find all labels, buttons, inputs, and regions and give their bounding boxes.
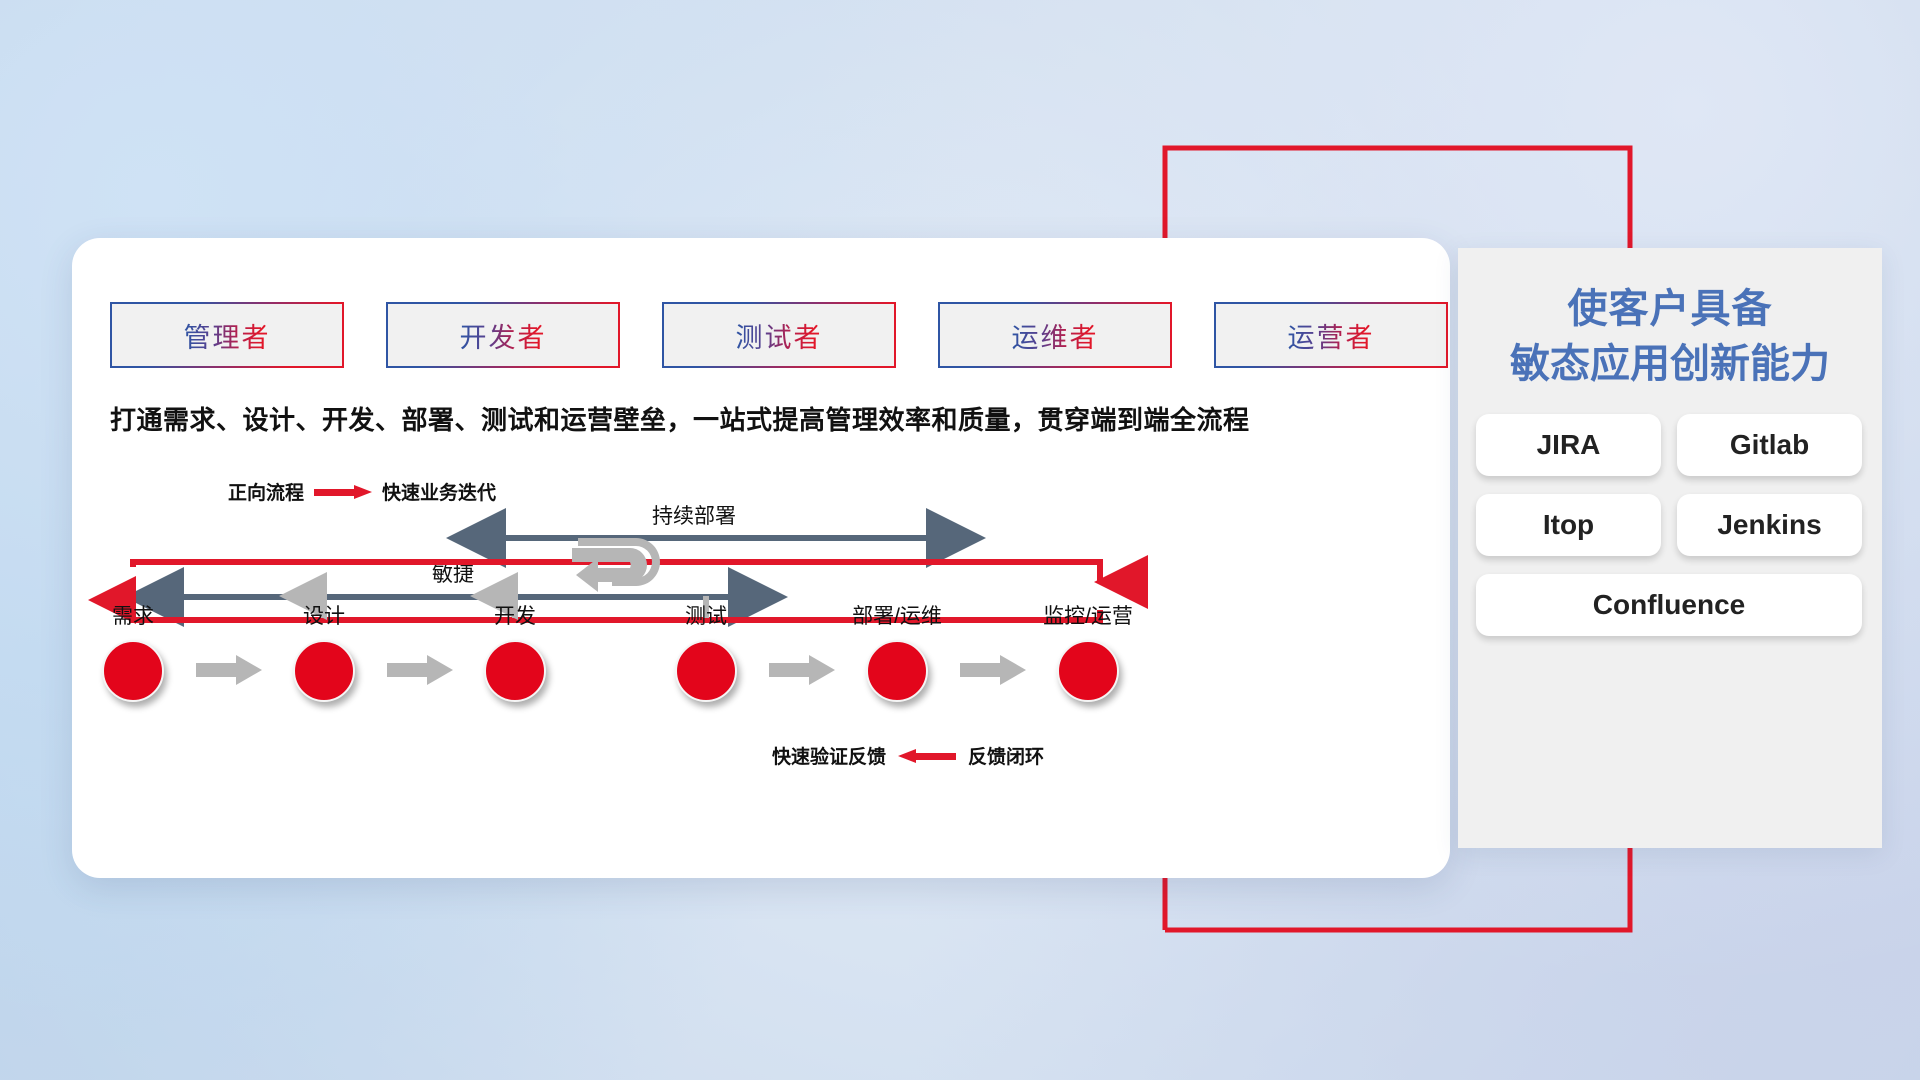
- tool-chip-itop[interactable]: Itop: [1476, 494, 1661, 556]
- capability-title-line2: 敏态应用创新能力: [1458, 337, 1882, 392]
- capability-panel: 使客户具备 敏态应用创新能力 JIRA Gitlab Itop Jenkins …: [1458, 248, 1882, 848]
- stage-label-test: 测试: [685, 600, 727, 630]
- stage-node-monitor-operate[interactable]: [1057, 640, 1119, 702]
- stage-label-deploy-ops: 部署/运维: [852, 600, 942, 630]
- legend-feedback-loop: 快速验证反馈 反馈闭环: [772, 742, 1044, 769]
- role-label: 开发者: [460, 316, 547, 355]
- stage-node-develop[interactable]: [484, 640, 546, 702]
- legend-forward-to: 快速业务迭代: [382, 478, 496, 505]
- role-box-manager[interactable]: 管理者: [110, 302, 344, 368]
- arrow-right-red-icon: [314, 485, 372, 499]
- legend-forward-flow: 正向流程 快速业务迭代: [228, 478, 496, 505]
- span-label-agile: 敏捷: [432, 558, 474, 588]
- tool-chip-jenkins[interactable]: Jenkins: [1677, 494, 1862, 556]
- flow-arrow-test-deploy: [769, 655, 835, 685]
- role-box-operator[interactable]: 运营者: [1214, 302, 1448, 368]
- stage-node-requirement[interactable]: [102, 640, 164, 702]
- flow-arrow-requirement-design: [196, 655, 262, 685]
- legend-feedback-to: 反馈闭环: [968, 742, 1044, 769]
- role-label: 运营者: [1288, 316, 1375, 355]
- role-label: 运维者: [1012, 316, 1099, 355]
- span-label-continuous-deploy: 持续部署: [652, 500, 736, 530]
- stage-node-deploy-ops[interactable]: [866, 640, 928, 702]
- tool-chip-jira[interactable]: JIRA: [1476, 414, 1661, 476]
- flow-arrow-deploy-monitor: [960, 655, 1026, 685]
- stage-label-develop: 开发: [494, 600, 536, 630]
- flow-arrow-design-develop: [387, 655, 453, 685]
- role-label: 管理者: [184, 316, 271, 355]
- arrow-left-red-icon: [898, 749, 956, 763]
- stage-label-requirement: 需求: [112, 600, 154, 630]
- headline-text: 打通需求、设计、开发、部署、测试和运营壁垒，一站式提高管理效率和质量，贯穿端到端…: [110, 400, 1420, 437]
- role-label: 测试者: [736, 316, 823, 355]
- role-box-ops[interactable]: 运维者: [938, 302, 1172, 368]
- stage-node-test[interactable]: [675, 640, 737, 702]
- stage-node-design[interactable]: [293, 640, 355, 702]
- tool-chip-grid: JIRA Gitlab Itop Jenkins Confluence: [1476, 414, 1864, 636]
- stage-label-design: 设计: [303, 600, 345, 630]
- tool-chip-gitlab[interactable]: Gitlab: [1677, 414, 1862, 476]
- tool-chip-confluence[interactable]: Confluence: [1476, 574, 1862, 636]
- slide-canvas: 管理者 开发者 测试者 运维者 运营者 打通需求、设计、开发、部署、测试和运营壁…: [0, 0, 1920, 1080]
- legend-forward-from: 正向流程: [228, 478, 304, 505]
- capability-title-line1: 使客户具备: [1458, 282, 1882, 337]
- capability-panel-title: 使客户具备 敏态应用创新能力: [1458, 282, 1882, 392]
- legend-feedback-from: 快速验证反馈: [772, 742, 886, 769]
- role-boxes-row: 管理者 开发者 测试者 运维者 运营者: [110, 302, 1448, 368]
- stage-label-monitor-operate: 监控/运营: [1043, 600, 1133, 630]
- role-box-tester[interactable]: 测试者: [662, 302, 896, 368]
- role-box-developer[interactable]: 开发者: [386, 302, 620, 368]
